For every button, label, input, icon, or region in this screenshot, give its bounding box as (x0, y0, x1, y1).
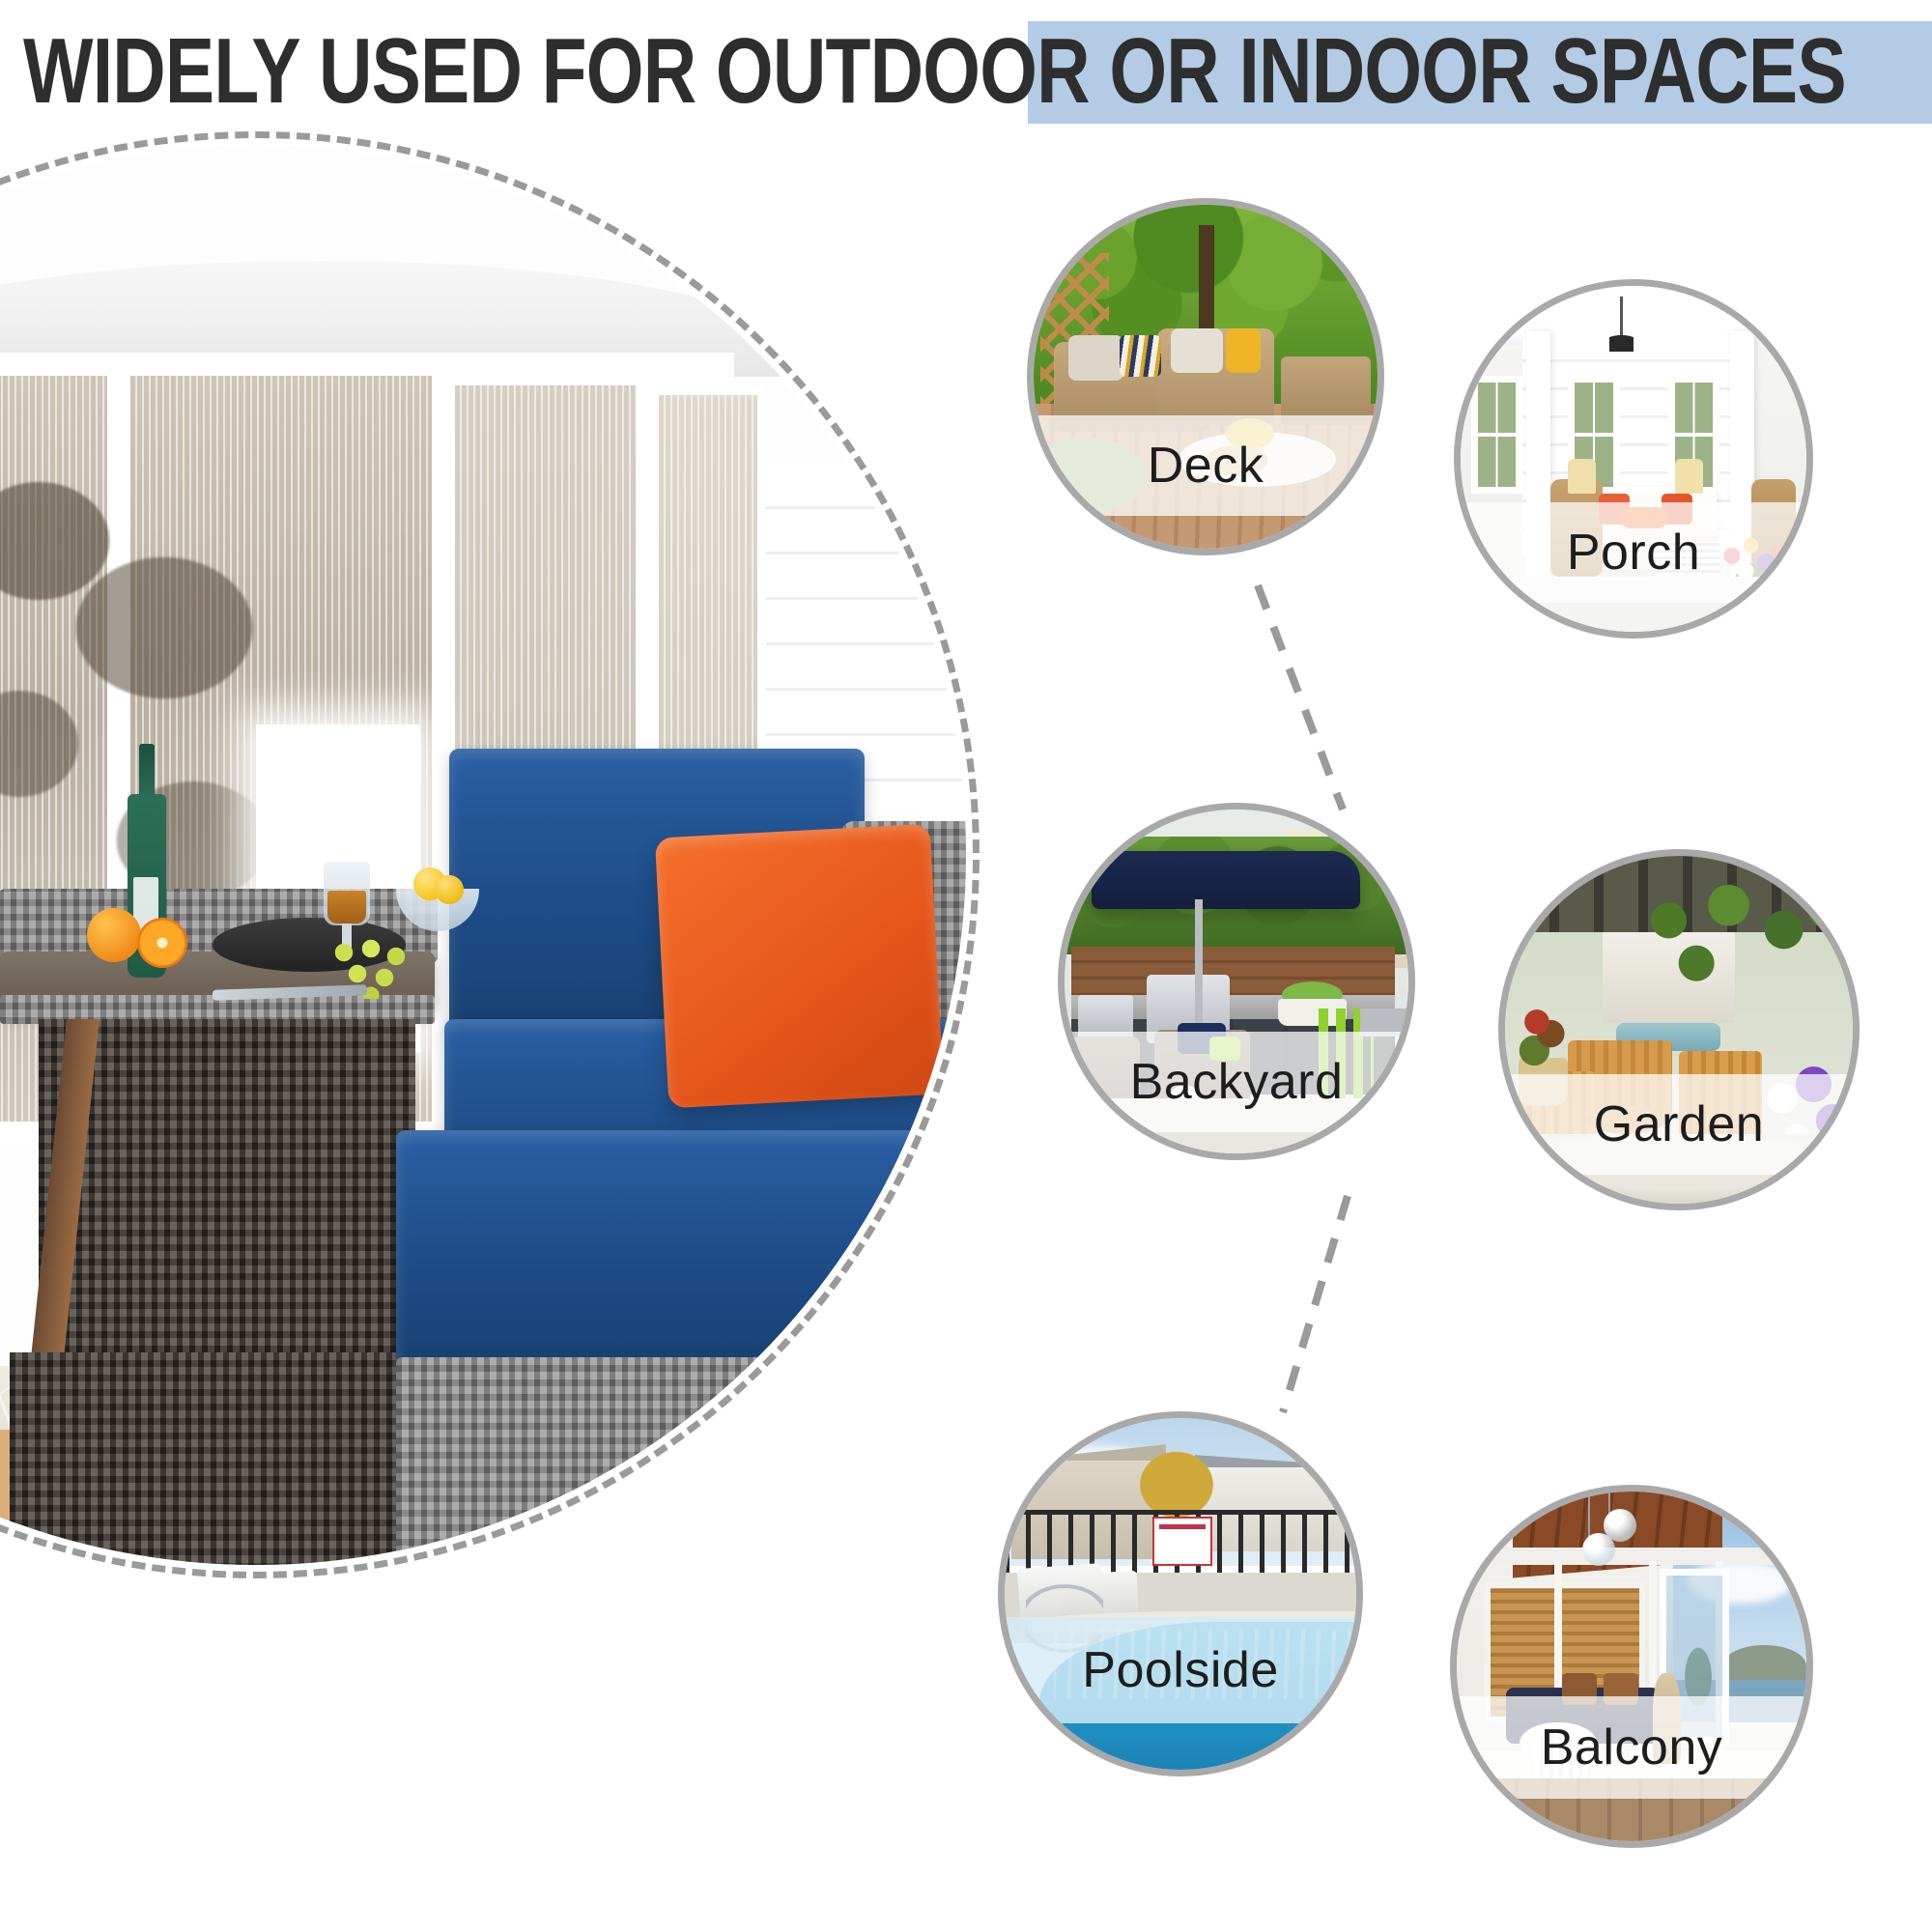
cushion-ottoman (396, 1130, 966, 1372)
striped-pillow (1120, 335, 1161, 377)
table-lamp (1568, 459, 1596, 494)
orange-throw-pillow (655, 824, 944, 1109)
wicker-base-right (396, 1357, 966, 1565)
hero-scene (0, 145, 966, 1565)
thumbnail-backyard[interactable]: Backyard (1065, 810, 1408, 1153)
thumbnail-porch[interactable]: Porch (1461, 286, 1806, 632)
storage-box-body (39, 1019, 415, 1367)
thumbnail-label-poolside: Poolside (1082, 1641, 1278, 1699)
thumbnail-garden[interactable]: Garden (1505, 856, 1853, 1204)
page-title: WIDELY USED FOR OUTDOOR OR INDOOR SPACES (23, 21, 1538, 128)
climbing-vine (1623, 884, 1853, 1037)
storage-box-lower (10, 1352, 425, 1565)
infographic-canvas: WIDELY USED FOR OUTDOOR OR INDOOR SPACES (0, 0, 1932, 1932)
porch-window (1471, 376, 1523, 494)
whiskey-glass (324, 862, 370, 925)
title-plain-segment: WIDELY USED FOR OUTDOOR (23, 19, 1109, 123)
thumbnail-label-garden: Garden (1594, 1095, 1764, 1153)
hero-circle-mask (0, 145, 966, 1565)
thumbnail-poolside[interactable]: Poolside (1005, 1418, 1356, 1770)
thumbnail-deck[interactable]: Deck (1034, 205, 1378, 549)
table-lamp (1675, 459, 1703, 494)
garden-label-band: Garden (1505, 1074, 1853, 1175)
orange-slice (137, 918, 187, 968)
porch-label-band: Porch (1461, 502, 1806, 603)
pool-rules-sign (1152, 1517, 1212, 1566)
yellow-pillow (1226, 328, 1261, 373)
hero-product-photo (0, 145, 966, 1565)
thumbnail-label-balcony: Balcony (1541, 1719, 1723, 1776)
pendant-light (1609, 297, 1634, 352)
thumbnail-label-deck: Deck (1148, 437, 1264, 495)
connector-backyard-poolside (1283, 1196, 1348, 1412)
deck-label-band: Deck (1034, 415, 1378, 516)
orange-fruit (87, 908, 141, 962)
navy-umbrella (1092, 851, 1360, 910)
backyard-label-band: Backyard (1065, 1032, 1408, 1132)
title-highlight-segment: OR INDOOR SPACES (1109, 19, 1845, 123)
balcony-label-band: Balcony (1457, 1696, 1806, 1799)
thumbnail-label-backyard: Backyard (1130, 1053, 1344, 1111)
thumbnail-label-porch: Porch (1567, 524, 1700, 582)
lemon-fruit (435, 875, 464, 904)
connector-deck-backyard (1258, 585, 1343, 810)
thumbnail-balcony[interactable]: Balcony (1457, 1492, 1806, 1841)
poolside-label-band: Poolside (1005, 1617, 1356, 1723)
potted-plant (1512, 1002, 1575, 1085)
